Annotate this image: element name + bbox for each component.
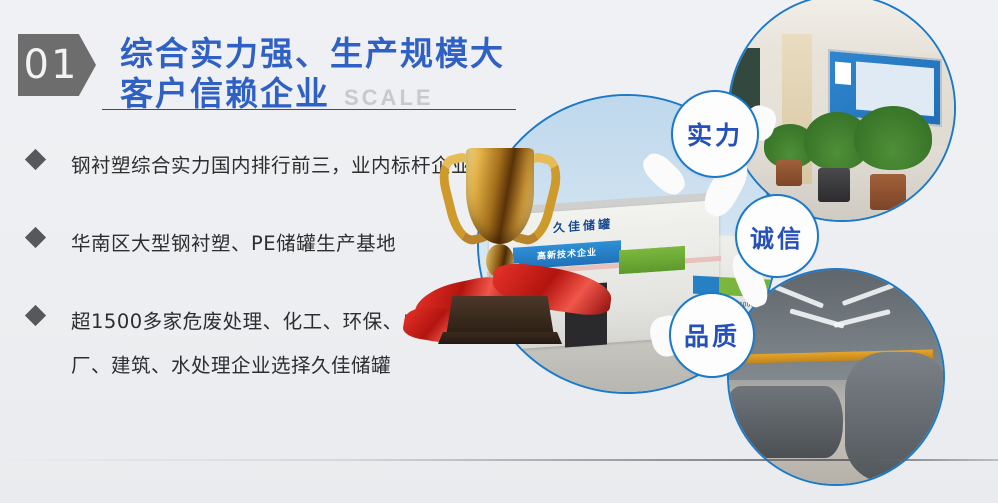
badge-strength[interactable]: 实力 xyxy=(671,90,759,178)
diamond-marker-icon xyxy=(25,305,46,326)
badge-quality-label: 品质 xyxy=(684,317,740,353)
bullet-line: 超1500多家危废处理、化工、环保、电 xyxy=(71,300,423,344)
badge-quality[interactable]: 品质 xyxy=(669,292,755,378)
plant-pot xyxy=(870,174,906,210)
trophy-base xyxy=(446,296,554,336)
bullet-line: 厂、建筑、水处理企业选择久佳储罐 xyxy=(71,344,423,388)
badge-strength-label: 实力 xyxy=(687,116,743,152)
factory-banner-green xyxy=(619,246,685,275)
header-divider xyxy=(102,109,516,110)
plant-pot xyxy=(818,168,850,202)
bullet-line: 华南区大型钢衬塑、PE储罐生产基地 xyxy=(71,232,396,255)
trophy-base-plinth xyxy=(438,332,562,344)
gold-trophy-graphic xyxy=(400,140,600,390)
title-line-2: 客户信赖企业 xyxy=(120,74,330,114)
badge-integrity[interactable]: 诚信 xyxy=(735,194,819,278)
section-header: 01 综合实力强、生产规模大 客户信赖企业 SCALE xyxy=(18,34,505,118)
badge-integrity-label: 诚信 xyxy=(750,219,804,254)
corridor-ceiling xyxy=(730,0,954,54)
bottom-reflection-line xyxy=(0,459,998,461)
section-number-text: 01 xyxy=(24,45,91,85)
potted-plant-leaves xyxy=(854,106,932,170)
steel-tank-left xyxy=(727,386,843,458)
trophy-cup-group xyxy=(452,148,548,258)
photo-composition: 久佳储罐 高新技术企业 全国服务热线:4008255584 xyxy=(455,0,998,503)
diamond-marker-icon xyxy=(25,149,46,170)
plant-pot xyxy=(776,160,802,186)
bullet-text: 超1500多家危废处理、化工、环保、电 厂、建筑、水处理企业选择久佳储罐 xyxy=(71,300,423,388)
title-block: 综合实力强、生产规模大 客户信赖企业 SCALE xyxy=(120,34,505,118)
steel-tank-right xyxy=(845,352,945,482)
bullet-text: 华南区大型钢衬塑、PE储罐生产基地 xyxy=(71,222,396,266)
promo-banner: 01 综合实力强、生产规模大 客户信赖企业 SCALE 钢衬塑综合实力国内排行前… xyxy=(0,0,998,503)
diamond-marker-icon xyxy=(25,227,46,248)
section-number-badge: 01 xyxy=(18,34,96,96)
title-line-1: 综合实力强、生产规模大 xyxy=(120,34,505,74)
subtitle-english: SCALE xyxy=(344,78,434,118)
